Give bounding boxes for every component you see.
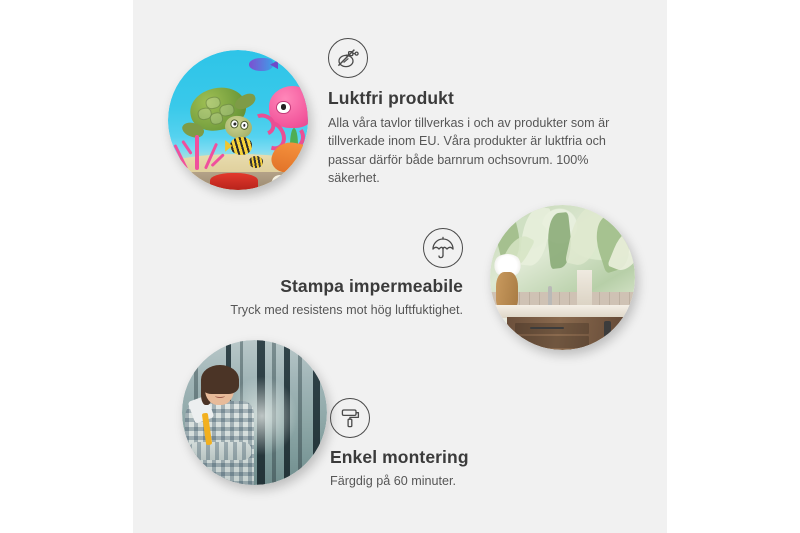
feature-description: Tryck med resistens mot hög luftfuktighe… <box>160 301 463 319</box>
crab-icon <box>210 173 258 190</box>
product-image-underwater <box>168 50 308 190</box>
product-feature-infographic: Luktfri produkt Alla våra tavlor tillver… <box>0 0 800 533</box>
umbrella-icon <box>423 228 463 268</box>
feature-easy-install: Enkel montering Färgdig på 60 minuter. <box>330 398 610 490</box>
vase <box>496 272 518 310</box>
painter-arm <box>188 442 252 461</box>
wood-vanity <box>507 317 635 350</box>
painter-hair <box>201 365 239 394</box>
shell-icon <box>272 175 289 189</box>
feature-odorless: Luktfri produkt Alla våra tavlor tillver… <box>328 38 628 187</box>
fish-yellow-icon <box>230 137 252 155</box>
coral-pink <box>176 123 218 171</box>
paint-roller-icon <box>330 398 370 438</box>
feature-description: Färgdig på 60 minuter. <box>330 472 610 490</box>
fish-blue-icon <box>249 58 273 71</box>
feature-waterproof: Stampa impermeabile Tryck med resistens … <box>160 228 463 319</box>
product-image-painter <box>182 340 327 485</box>
feature-title: Luktfri produkt <box>328 88 628 109</box>
feature-title: Stampa impermeabile <box>160 276 463 297</box>
fish-small-icon <box>249 156 263 167</box>
feature-description: Alla våra tavlor tillverkas i och av pro… <box>328 114 628 187</box>
product-image-bathroom <box>490 205 635 350</box>
feature-title: Enkel montering <box>330 447 610 468</box>
no-odor-perfume-bottle-icon <box>328 38 368 78</box>
